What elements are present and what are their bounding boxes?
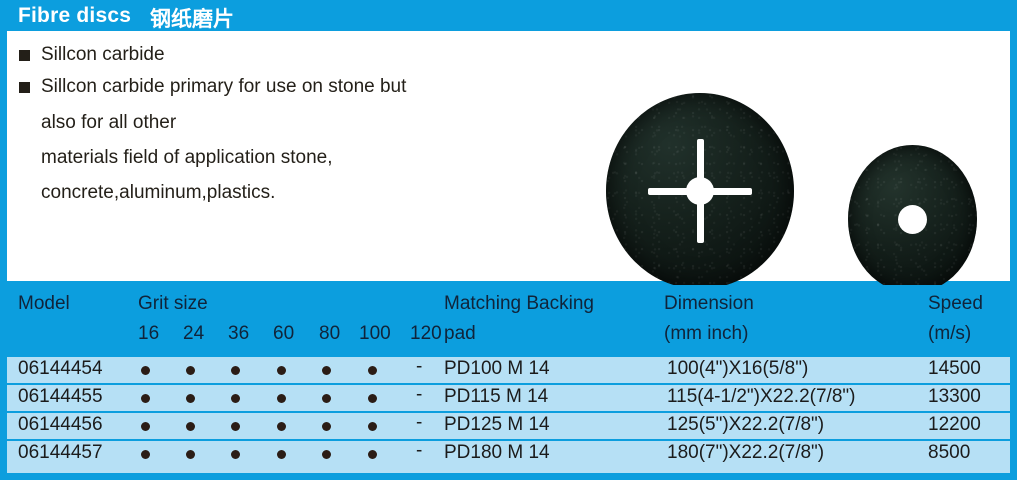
fibre-disc-small-image <box>848 145 977 293</box>
grit-dot-80 <box>322 450 331 459</box>
spec-table-body: 06144454 - PD100 M 14 100(4")X16(5/8") 1… <box>7 355 1010 473</box>
grit-dash-120: - <box>416 412 422 434</box>
product-info-panel: Sillcon carbide Sillcon carbide primary … <box>7 31 1010 281</box>
grit-dot-36 <box>231 366 240 375</box>
square-bullet-icon <box>19 50 30 61</box>
cell-model: 06144455 <box>18 386 103 408</box>
column-header-pad-line1: Matching Backing <box>444 293 594 315</box>
feature-item: Sillcon carbide primary for use on stone… <box>19 75 406 99</box>
grit-dot-16 <box>141 366 150 375</box>
grit-dot-60 <box>277 394 286 403</box>
cell-dimension: 115(4-1/2")X22.2(7/8") <box>667 386 855 408</box>
cell-model: 06144454 <box>18 358 103 380</box>
grit-col-60: 60 <box>273 323 294 345</box>
grit-dot-24 <box>186 450 195 459</box>
cell-model: 06144456 <box>18 414 103 436</box>
grit-dot-80 <box>322 422 331 431</box>
column-header-grit-size: Grit size <box>138 293 208 315</box>
grit-col-36: 36 <box>228 323 249 345</box>
cell-speed: 13300 <box>928 386 981 408</box>
grit-dot-24 <box>186 366 195 375</box>
page-title-bar: Fibre discs 钢纸磨片 <box>0 0 1017 31</box>
feature-text: Sillcon carbide primary for use on stone… <box>41 75 406 99</box>
cell-speed: 14500 <box>928 358 981 380</box>
grit-col-80: 80 <box>319 323 340 345</box>
grit-dot-16 <box>141 450 150 459</box>
grit-col-24: 24 <box>183 323 204 345</box>
catalog-page: Fibre discs 钢纸磨片 Sillcon carbide Sillcon… <box>0 0 1017 480</box>
row-separator <box>7 383 1010 385</box>
row-separator <box>7 439 1010 441</box>
column-header-dimension-line2: (mm inch) <box>664 323 748 345</box>
grit-dot-36 <box>231 394 240 403</box>
grit-dot-80 <box>322 394 331 403</box>
grit-col-100: 100 <box>359 323 391 345</box>
grit-dot-100 <box>368 422 377 431</box>
row-separator <box>7 355 1010 357</box>
feature-continuation-line: materials field of application stone, <box>41 146 333 170</box>
cell-pad: PD125 M 14 <box>444 414 550 436</box>
grit-dot-60 <box>277 366 286 375</box>
grit-dot-24 <box>186 394 195 403</box>
column-header-speed-line1: Speed <box>928 293 983 315</box>
grit-dot-60 <box>277 422 286 431</box>
grit-dash-120: - <box>416 440 422 462</box>
hub-centre-hole <box>686 177 714 205</box>
column-header-speed-line2: (m/s) <box>928 323 971 345</box>
column-header-model: Model <box>18 293 70 315</box>
feature-continuation-line: concrete,aluminum,plastics. <box>41 181 275 205</box>
hub-centre-hole <box>898 205 927 234</box>
spec-table-header: Model Grit size 16 24 36 60 80 100 120 M… <box>7 285 1010 355</box>
grit-col-120: 120 <box>410 323 442 345</box>
cell-dimension: 125(5")X22.2(7/8") <box>667 414 824 436</box>
page-title-cn: 钢纸磨片 <box>150 3 234 33</box>
grit-dot-36 <box>231 450 240 459</box>
page-title-en: Fibre discs <box>18 4 131 28</box>
grit-dot-36 <box>231 422 240 431</box>
grit-col-16: 16 <box>138 323 159 345</box>
grit-dash-120: - <box>416 384 422 406</box>
cell-speed: 12200 <box>928 414 981 436</box>
square-bullet-icon <box>19 82 30 93</box>
column-header-pad-line2: pad <box>444 323 476 345</box>
feature-continuation-line: also for all other <box>41 111 176 135</box>
cell-model: 06144457 <box>18 442 103 464</box>
cell-pad: PD100 M 14 <box>444 358 550 380</box>
cell-speed: 8500 <box>928 442 970 464</box>
cell-dimension: 100(4")X16(5/8") <box>667 358 808 380</box>
cell-pad: PD115 M 14 <box>444 386 548 408</box>
cell-pad: PD180 M 14 <box>444 442 550 464</box>
grit-dot-24 <box>186 422 195 431</box>
grit-dot-16 <box>141 394 150 403</box>
grit-dot-60 <box>277 450 286 459</box>
grit-dot-16 <box>141 422 150 431</box>
feature-text: Sillcon carbide <box>41 43 165 67</box>
row-separator <box>7 411 1010 413</box>
feature-item: Sillcon carbide <box>19 43 165 67</box>
grit-dot-80 <box>322 366 331 375</box>
column-header-dimension-line1: Dimension <box>664 293 754 315</box>
grit-dot-100 <box>368 450 377 459</box>
grit-dash-120: - <box>416 356 422 378</box>
grit-dot-100 <box>368 366 377 375</box>
fibre-disc-large-image <box>606 93 794 289</box>
cell-dimension: 180(7")X22.2(7/8") <box>667 442 824 464</box>
grit-dot-100 <box>368 394 377 403</box>
